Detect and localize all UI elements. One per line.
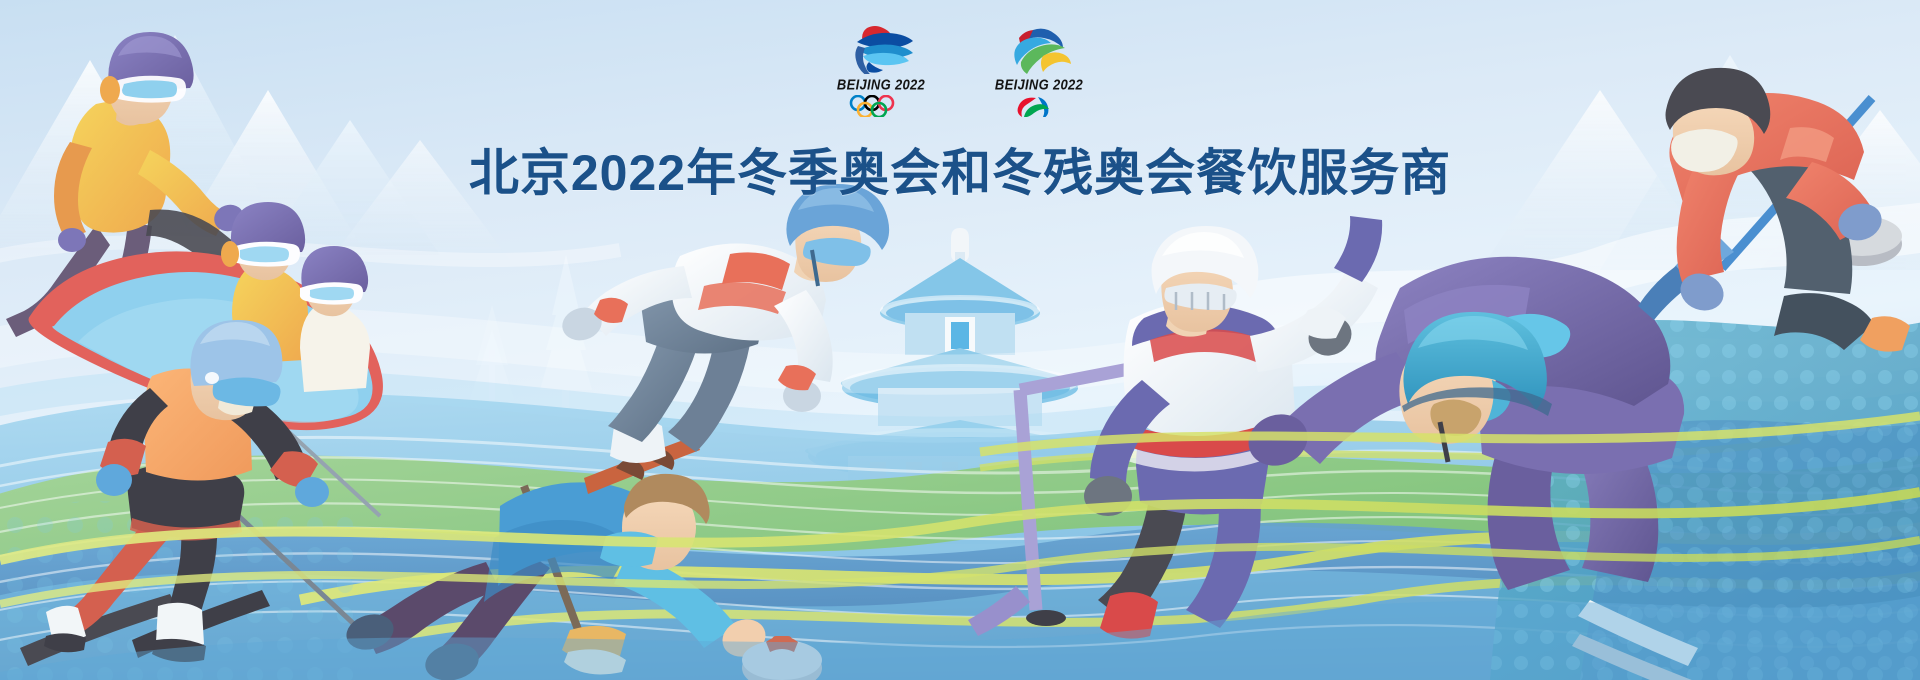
olympics-banner: BEIJING 2022 (0, 0, 1920, 680)
foreground-ribbons (0, 0, 1920, 680)
